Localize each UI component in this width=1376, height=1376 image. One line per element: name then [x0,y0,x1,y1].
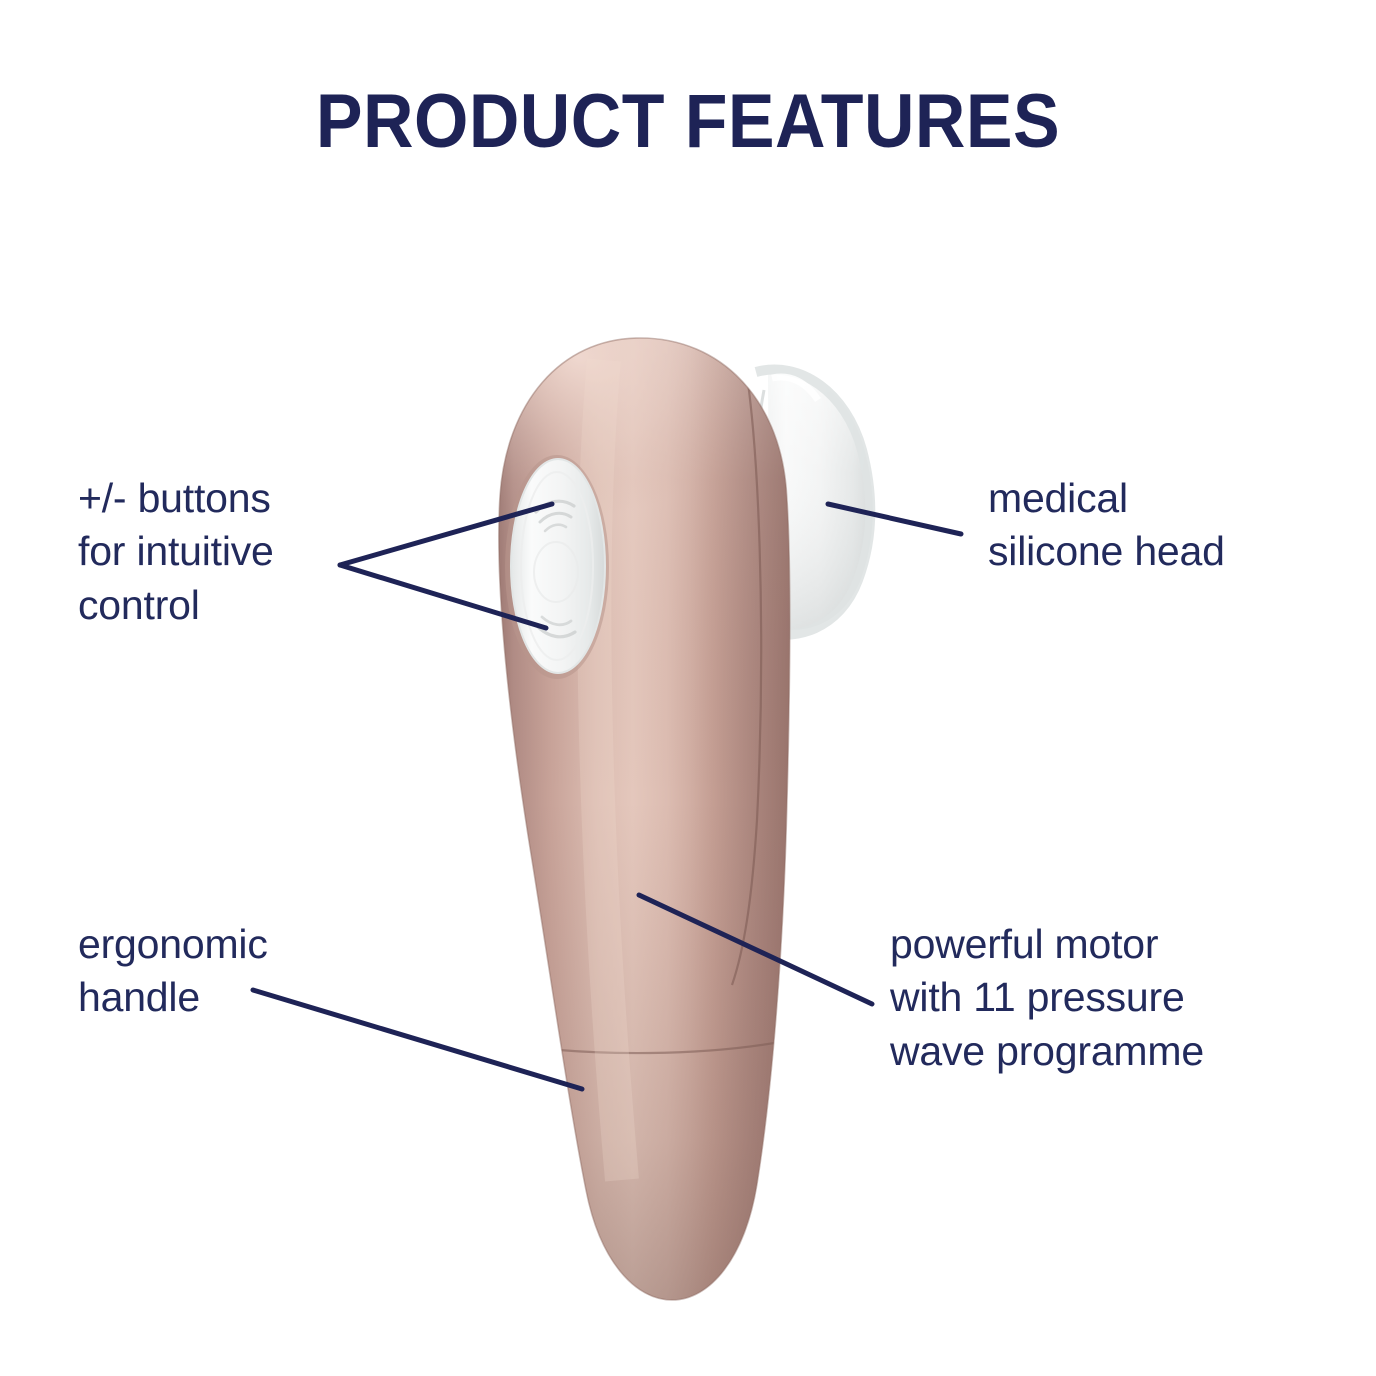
callout-label-ergonomic-handle: ergonomic handle [78,918,408,1025]
control-button-panel [505,455,609,679]
product-illustration [0,0,1376,1376]
product-features-page: PRODUCT FEATURES [0,0,1376,1376]
callout-label-powerful-motor: powerful motor with 11 pressure wave pro… [890,918,1320,1078]
callout-label-buttons: +/- buttons for intuitive control [78,472,408,632]
product-body [470,300,820,1320]
callout-label-silicone-head: medical silicone head [988,472,1368,579]
